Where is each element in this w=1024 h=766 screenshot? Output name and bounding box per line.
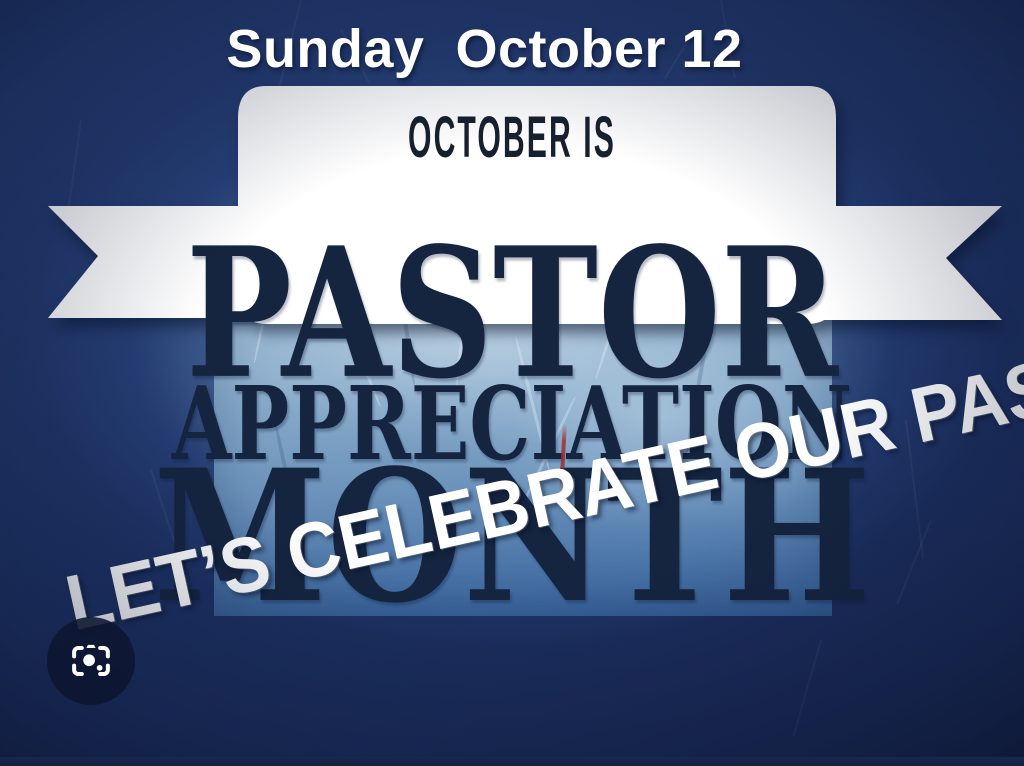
bottom-edge-strip [0,757,1024,766]
date-title-overlay: Sunday October 12 [0,18,1024,80]
poster-image: OCTOBER IS PASTOR APPRECIATION MONTH LET… [0,0,1024,766]
google-lens-button[interactable] [47,617,135,705]
google-lens-camera-icon [68,638,114,684]
background-vignette [0,0,1024,766]
